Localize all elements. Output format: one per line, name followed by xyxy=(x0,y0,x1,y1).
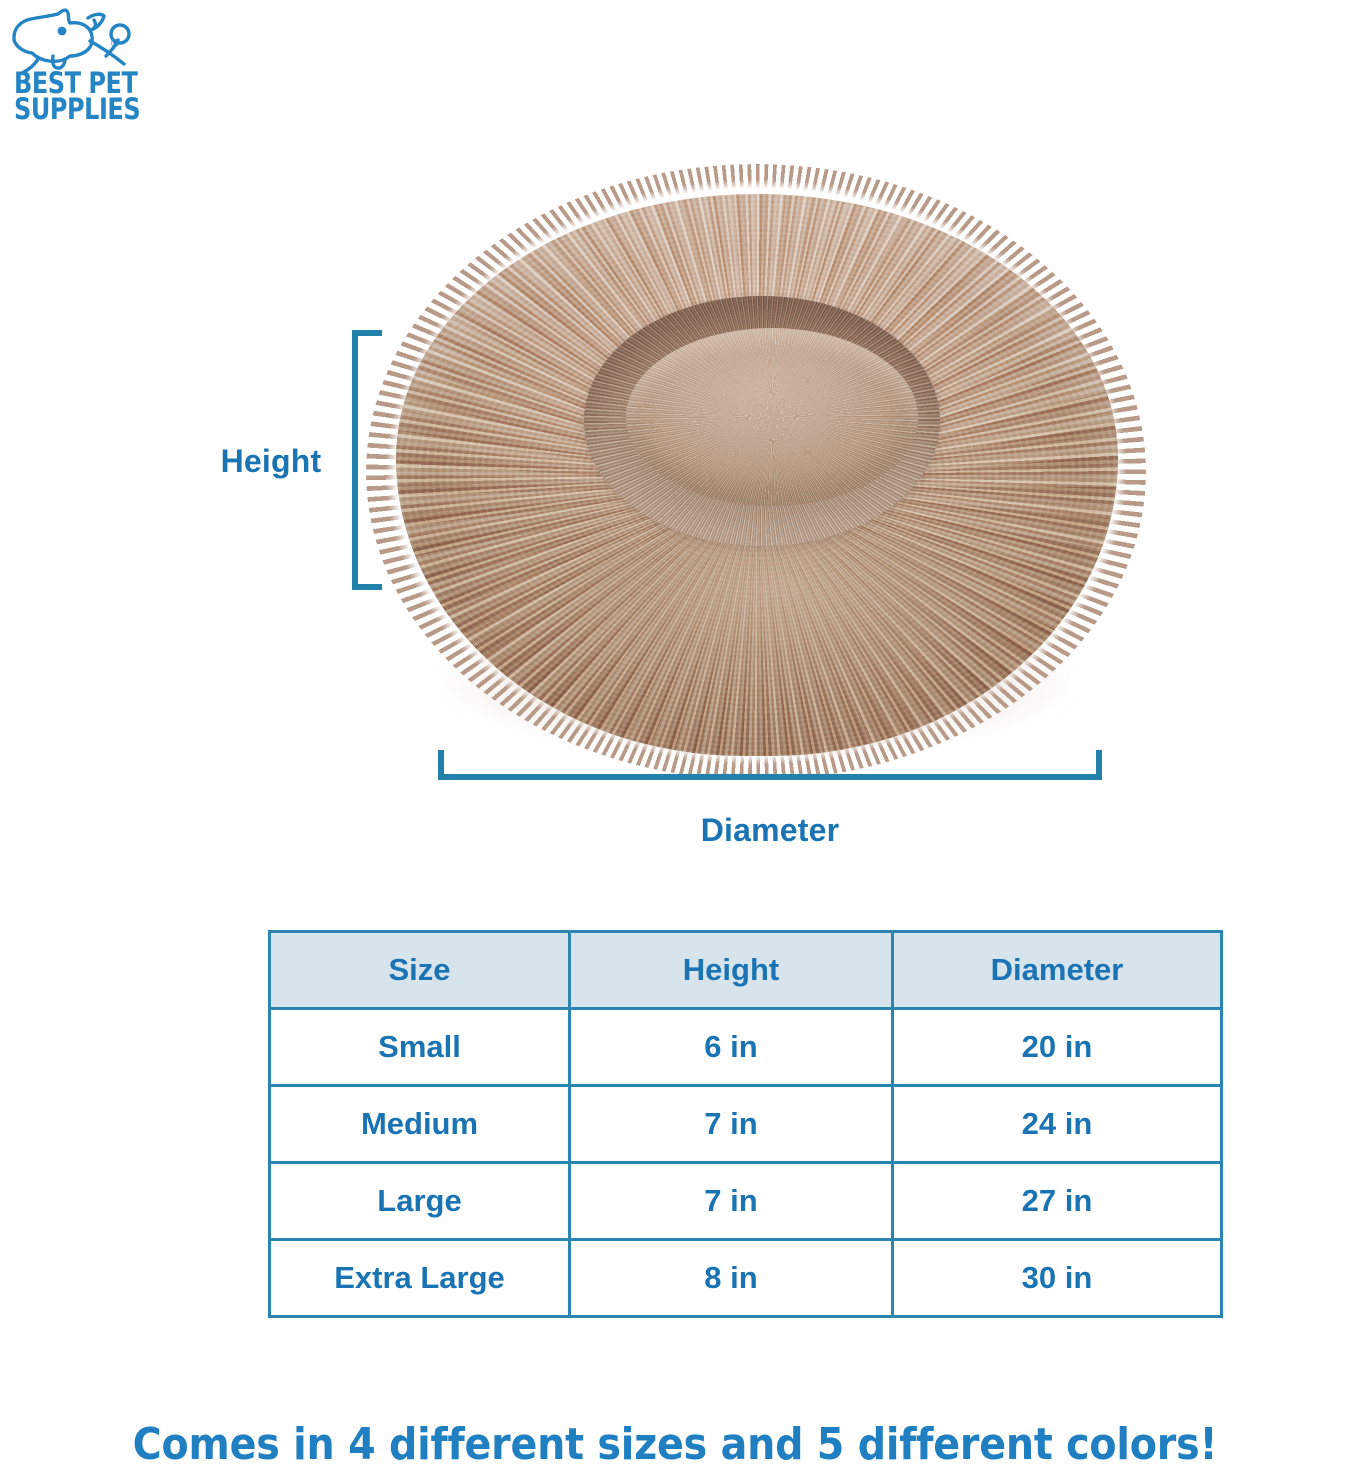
cell-size: Medium xyxy=(270,1086,570,1163)
cell-height: 7 in xyxy=(570,1086,893,1163)
cell-size: Small xyxy=(270,1009,570,1086)
diameter-dimension-label: Diameter xyxy=(438,812,1102,849)
table-row: Small 6 in 20 in xyxy=(270,1009,1222,1086)
brand-logo: ® BEST PET SUPPLIES xyxy=(8,4,178,134)
table-row: Medium 7 in 24 in xyxy=(270,1086,1222,1163)
column-header-diameter: Diameter xyxy=(893,932,1222,1009)
footer-tagline: Comes in 4 different sizes and 5 differe… xyxy=(0,1419,1350,1470)
table-header-row: Size Height Diameter xyxy=(270,932,1222,1009)
brand-wordmark: BEST PET SUPPLIES xyxy=(14,70,152,122)
height-bracket-stem xyxy=(352,330,358,590)
table-row: Large 7 in 27 in xyxy=(270,1163,1222,1240)
column-header-height: Height xyxy=(570,932,893,1009)
cell-height: 8 in xyxy=(570,1240,893,1317)
diameter-dimension-bracket xyxy=(438,748,1102,780)
size-specification-table: Size Height Diameter Small 6 in 20 in Me… xyxy=(268,930,1223,1318)
table-row: Extra Large 8 in 30 in xyxy=(270,1240,1222,1317)
donut-dog-bed-photo xyxy=(378,176,1134,768)
cell-diameter: 20 in xyxy=(893,1009,1222,1086)
cell-size: Large xyxy=(270,1163,570,1240)
cell-diameter: 27 in xyxy=(893,1163,1222,1240)
cell-diameter: 30 in xyxy=(893,1240,1222,1317)
cell-size: Extra Large xyxy=(270,1240,570,1317)
height-dimension-bracket xyxy=(352,330,386,590)
cell-height: 6 in xyxy=(570,1009,893,1086)
registered-mark: ® xyxy=(111,38,119,50)
brand-name-line-2: SUPPLIES xyxy=(14,96,152,122)
column-header-size: Size xyxy=(270,932,570,1009)
diameter-bracket-rail xyxy=(438,774,1102,780)
bed-center-pillow xyxy=(626,328,918,506)
cell-height: 7 in xyxy=(570,1163,893,1240)
diameter-bracket-right-cap xyxy=(1096,750,1102,780)
cell-diameter: 24 in xyxy=(893,1086,1222,1163)
height-bracket-bottom-cap xyxy=(352,584,382,590)
pillow-fur-texture xyxy=(626,328,918,506)
height-dimension-label: Height xyxy=(206,443,336,480)
